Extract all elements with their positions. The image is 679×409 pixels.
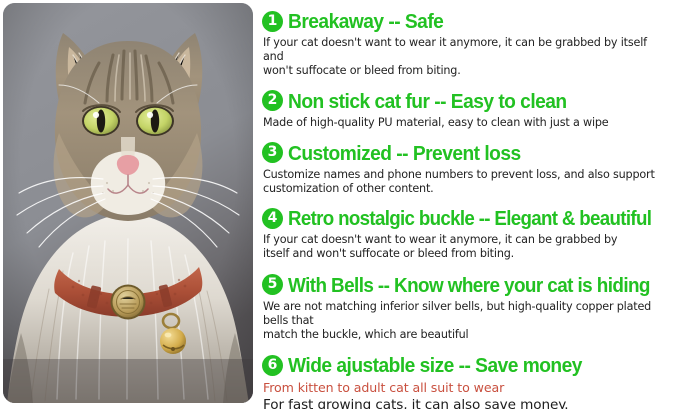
feature-list: 1 Breakaway -- Safe If your cat doesn't … xyxy=(253,0,679,409)
feature-title-4: Retro nostalgic buckle -- Elegant & beau… xyxy=(288,207,651,231)
feature-description-2: Made of high-quality PU material, easy t… xyxy=(263,116,661,130)
feature-description-line: match the buckle, which are beautiful xyxy=(263,328,661,342)
feature-title-3: Customized -- Prevent loss xyxy=(288,142,521,166)
feature-heading-row-4: 4 Retro nostalgic buckle -- Elegant & be… xyxy=(262,207,677,231)
feature-title-6: Wide ajustable size -- Save money xyxy=(288,354,582,378)
feature-item-2: 2 Non stick cat fur -- Easy to clean Mad… xyxy=(262,90,677,130)
feature-description-5: We are not matching inferior silver bell… xyxy=(263,300,661,343)
feature-heading-row-3: 3 Customized -- Prevent loss xyxy=(262,142,677,166)
feature-item-4: 4 Retro nostalgic buckle -- Elegant & be… xyxy=(262,207,677,261)
product-feature-infographic: 1 Breakaway -- Safe If your cat doesn't … xyxy=(0,0,679,409)
feature-description-line: If your cat doesn't want to wear it anym… xyxy=(263,233,661,247)
feature-number-badge-6: 6 xyxy=(262,355,283,376)
feature-description-line: won't suffocate or bleed from biting. xyxy=(263,64,661,78)
feature-item-6: 6 Wide ajustable size -- Save money From… xyxy=(262,354,677,409)
feature-highlight-line-6: From kitten to adult cat all suit to wea… xyxy=(263,380,677,396)
feature-title-1: Breakaway -- Safe xyxy=(288,10,443,34)
feature-description-line: Customize names and phone numbers to pre… xyxy=(263,168,661,182)
feature-description-line: customization of other content. xyxy=(263,182,661,196)
feature-description-1: If your cat doesn't want to wear it anym… xyxy=(263,36,661,79)
feature-item-5: 5 With Bells -- Know where your cat is h… xyxy=(262,274,677,343)
feature-description-3: Customize names and phone numbers to pre… xyxy=(263,168,661,196)
product-image-pane xyxy=(0,0,253,409)
feature-description-line: Made of high-quality PU material, easy t… xyxy=(263,116,661,130)
feature-heading-row-6: 6 Wide ajustable size -- Save money xyxy=(262,354,677,378)
feature-title-5: With Bells -- Know where your cat is hid… xyxy=(288,274,650,298)
feature-item-1: 1 Breakaway -- Safe If your cat doesn't … xyxy=(262,10,677,79)
feature-number-badge-3: 3 xyxy=(262,142,283,163)
cat-product-photo xyxy=(3,3,253,403)
feature-number-badge-4: 4 xyxy=(262,208,283,229)
feature-heading-row-1: 1 Breakaway -- Safe xyxy=(262,10,677,34)
feature-heading-row-2: 2 Non stick cat fur -- Easy to clean xyxy=(262,90,677,114)
feature-description-6: For fast growing cats, it can also save … xyxy=(263,397,677,409)
feature-title-2: Non stick cat fur -- Easy to clean xyxy=(288,90,567,114)
feature-description-line: itself and won't suffocate or bleed from… xyxy=(263,247,661,261)
cat-photo-illustration xyxy=(3,3,253,403)
feature-item-3: 3 Customized -- Prevent loss Customize n… xyxy=(262,142,677,196)
feature-description-4: If your cat doesn't want to wear it anym… xyxy=(263,233,661,261)
feature-number-badge-2: 2 xyxy=(262,90,283,111)
feature-number-badge-5: 5 xyxy=(262,274,283,295)
feature-description-line: We are not matching inferior silver bell… xyxy=(263,300,661,328)
feature-number-badge-1: 1 xyxy=(262,11,283,32)
feature-description-line: If your cat doesn't want to wear it anym… xyxy=(263,36,661,64)
feature-heading-row-5: 5 With Bells -- Know where your cat is h… xyxy=(262,274,677,298)
